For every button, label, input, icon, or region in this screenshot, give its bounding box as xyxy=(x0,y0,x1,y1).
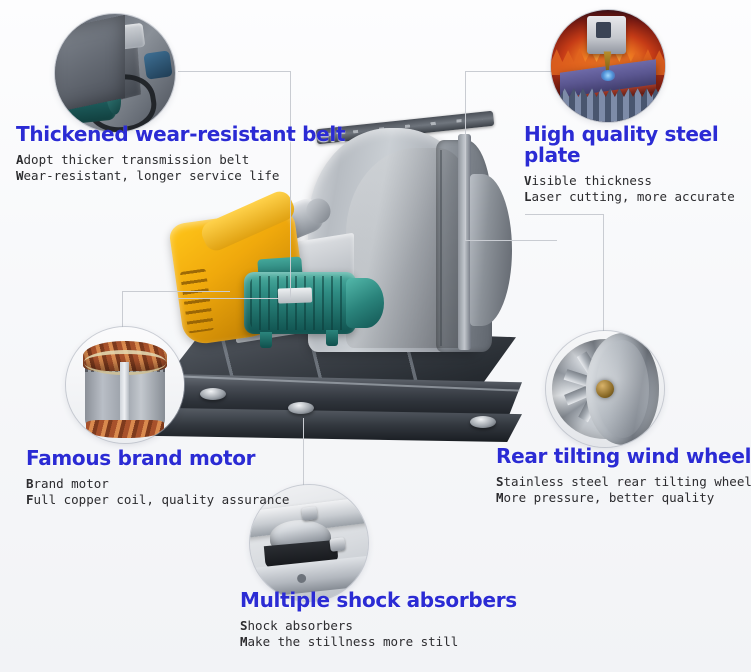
impeller-wind-wheel-photo xyxy=(546,331,664,447)
pulley-port xyxy=(111,59,124,72)
callout-line: Shock absorbers xyxy=(240,618,517,634)
shock-absorber-mount xyxy=(470,416,496,428)
callout-title: Famous brand motor xyxy=(26,448,289,469)
air-inlet-cone xyxy=(470,174,512,326)
callout-line: Visible thickness xyxy=(524,173,751,189)
connector-line-wheel-vertical xyxy=(603,214,604,332)
callout-thickened-wear-resistant-belt: Thickened wear-resistant belt Adopt thic… xyxy=(16,124,345,184)
secondary-motor xyxy=(143,50,173,79)
hex-bolt xyxy=(329,537,345,552)
connector-line-belt-vertical xyxy=(290,71,291,299)
callout-line: Wear-resistant, longer service life xyxy=(16,168,345,184)
stator-key-slot xyxy=(120,362,128,427)
laser-cutting-head xyxy=(587,16,626,54)
connector-line-steel-foot xyxy=(465,240,557,241)
callout-line: Brand motor xyxy=(26,476,289,492)
motor-foot xyxy=(326,330,338,346)
callout-title: Thickened wear-resistant belt xyxy=(16,124,345,145)
motor-foot xyxy=(260,332,272,348)
pulley-port xyxy=(92,62,105,75)
callout-title: Rear tilting wind wheel xyxy=(496,446,751,467)
drive-motor xyxy=(63,78,118,126)
callout-line: Full copper coil, quality assurance xyxy=(26,492,289,508)
connector-line-shock-vertical xyxy=(303,418,304,486)
callout-multiple-shock-absorbers: Multiple shock absorbers Shock absorbers… xyxy=(240,590,517,650)
callout-high-quality-steel-plate: High quality steel plate Visible thickne… xyxy=(524,124,751,205)
motor-drive-end xyxy=(346,278,384,328)
callout-line: Adopt thicker transmission belt xyxy=(16,152,345,168)
callout-line: Make the stillness more still xyxy=(240,634,517,650)
motor-nameplate xyxy=(278,287,313,303)
motor-stator-winding-photo xyxy=(66,327,184,443)
belt-drive-pulley-photo xyxy=(55,14,175,132)
product-feature-infographic: Thickened wear-resistant belt Adopt thic… xyxy=(0,0,751,672)
callout-title: Multiple shock absorbers xyxy=(240,590,517,611)
connector-line-steel-vertical xyxy=(465,71,466,241)
housing-seam xyxy=(440,150,442,346)
motor-cooling-fins xyxy=(250,276,350,330)
hex-bolt xyxy=(301,506,317,521)
laser-cutting-photo xyxy=(551,10,665,122)
copper-winding-bottom xyxy=(86,420,164,439)
shock-absorber-mount xyxy=(200,388,226,400)
callout-rear-tilting-wind-wheel: Rear tilting wind wheel Stainless steel … xyxy=(496,446,751,506)
connector-line-belt-horizontal xyxy=(178,71,291,72)
connector-line-motor-horizontal xyxy=(122,291,230,292)
callout-line: Laser cutting, more accurate xyxy=(524,189,751,205)
callout-line: Stainless steel rear tilting wheel xyxy=(496,474,751,490)
connector-line-belt-foot xyxy=(178,298,291,299)
cutting-spark xyxy=(601,70,615,80)
callout-line: More pressure, better quality xyxy=(496,490,751,506)
shock-absorber-mount xyxy=(288,402,314,414)
connector-line-wheel-horizontal xyxy=(525,214,604,215)
callout-title: High quality steel plate xyxy=(524,124,751,166)
callout-famous-brand-motor: Famous brand motor Brand motor Full copp… xyxy=(26,448,289,508)
